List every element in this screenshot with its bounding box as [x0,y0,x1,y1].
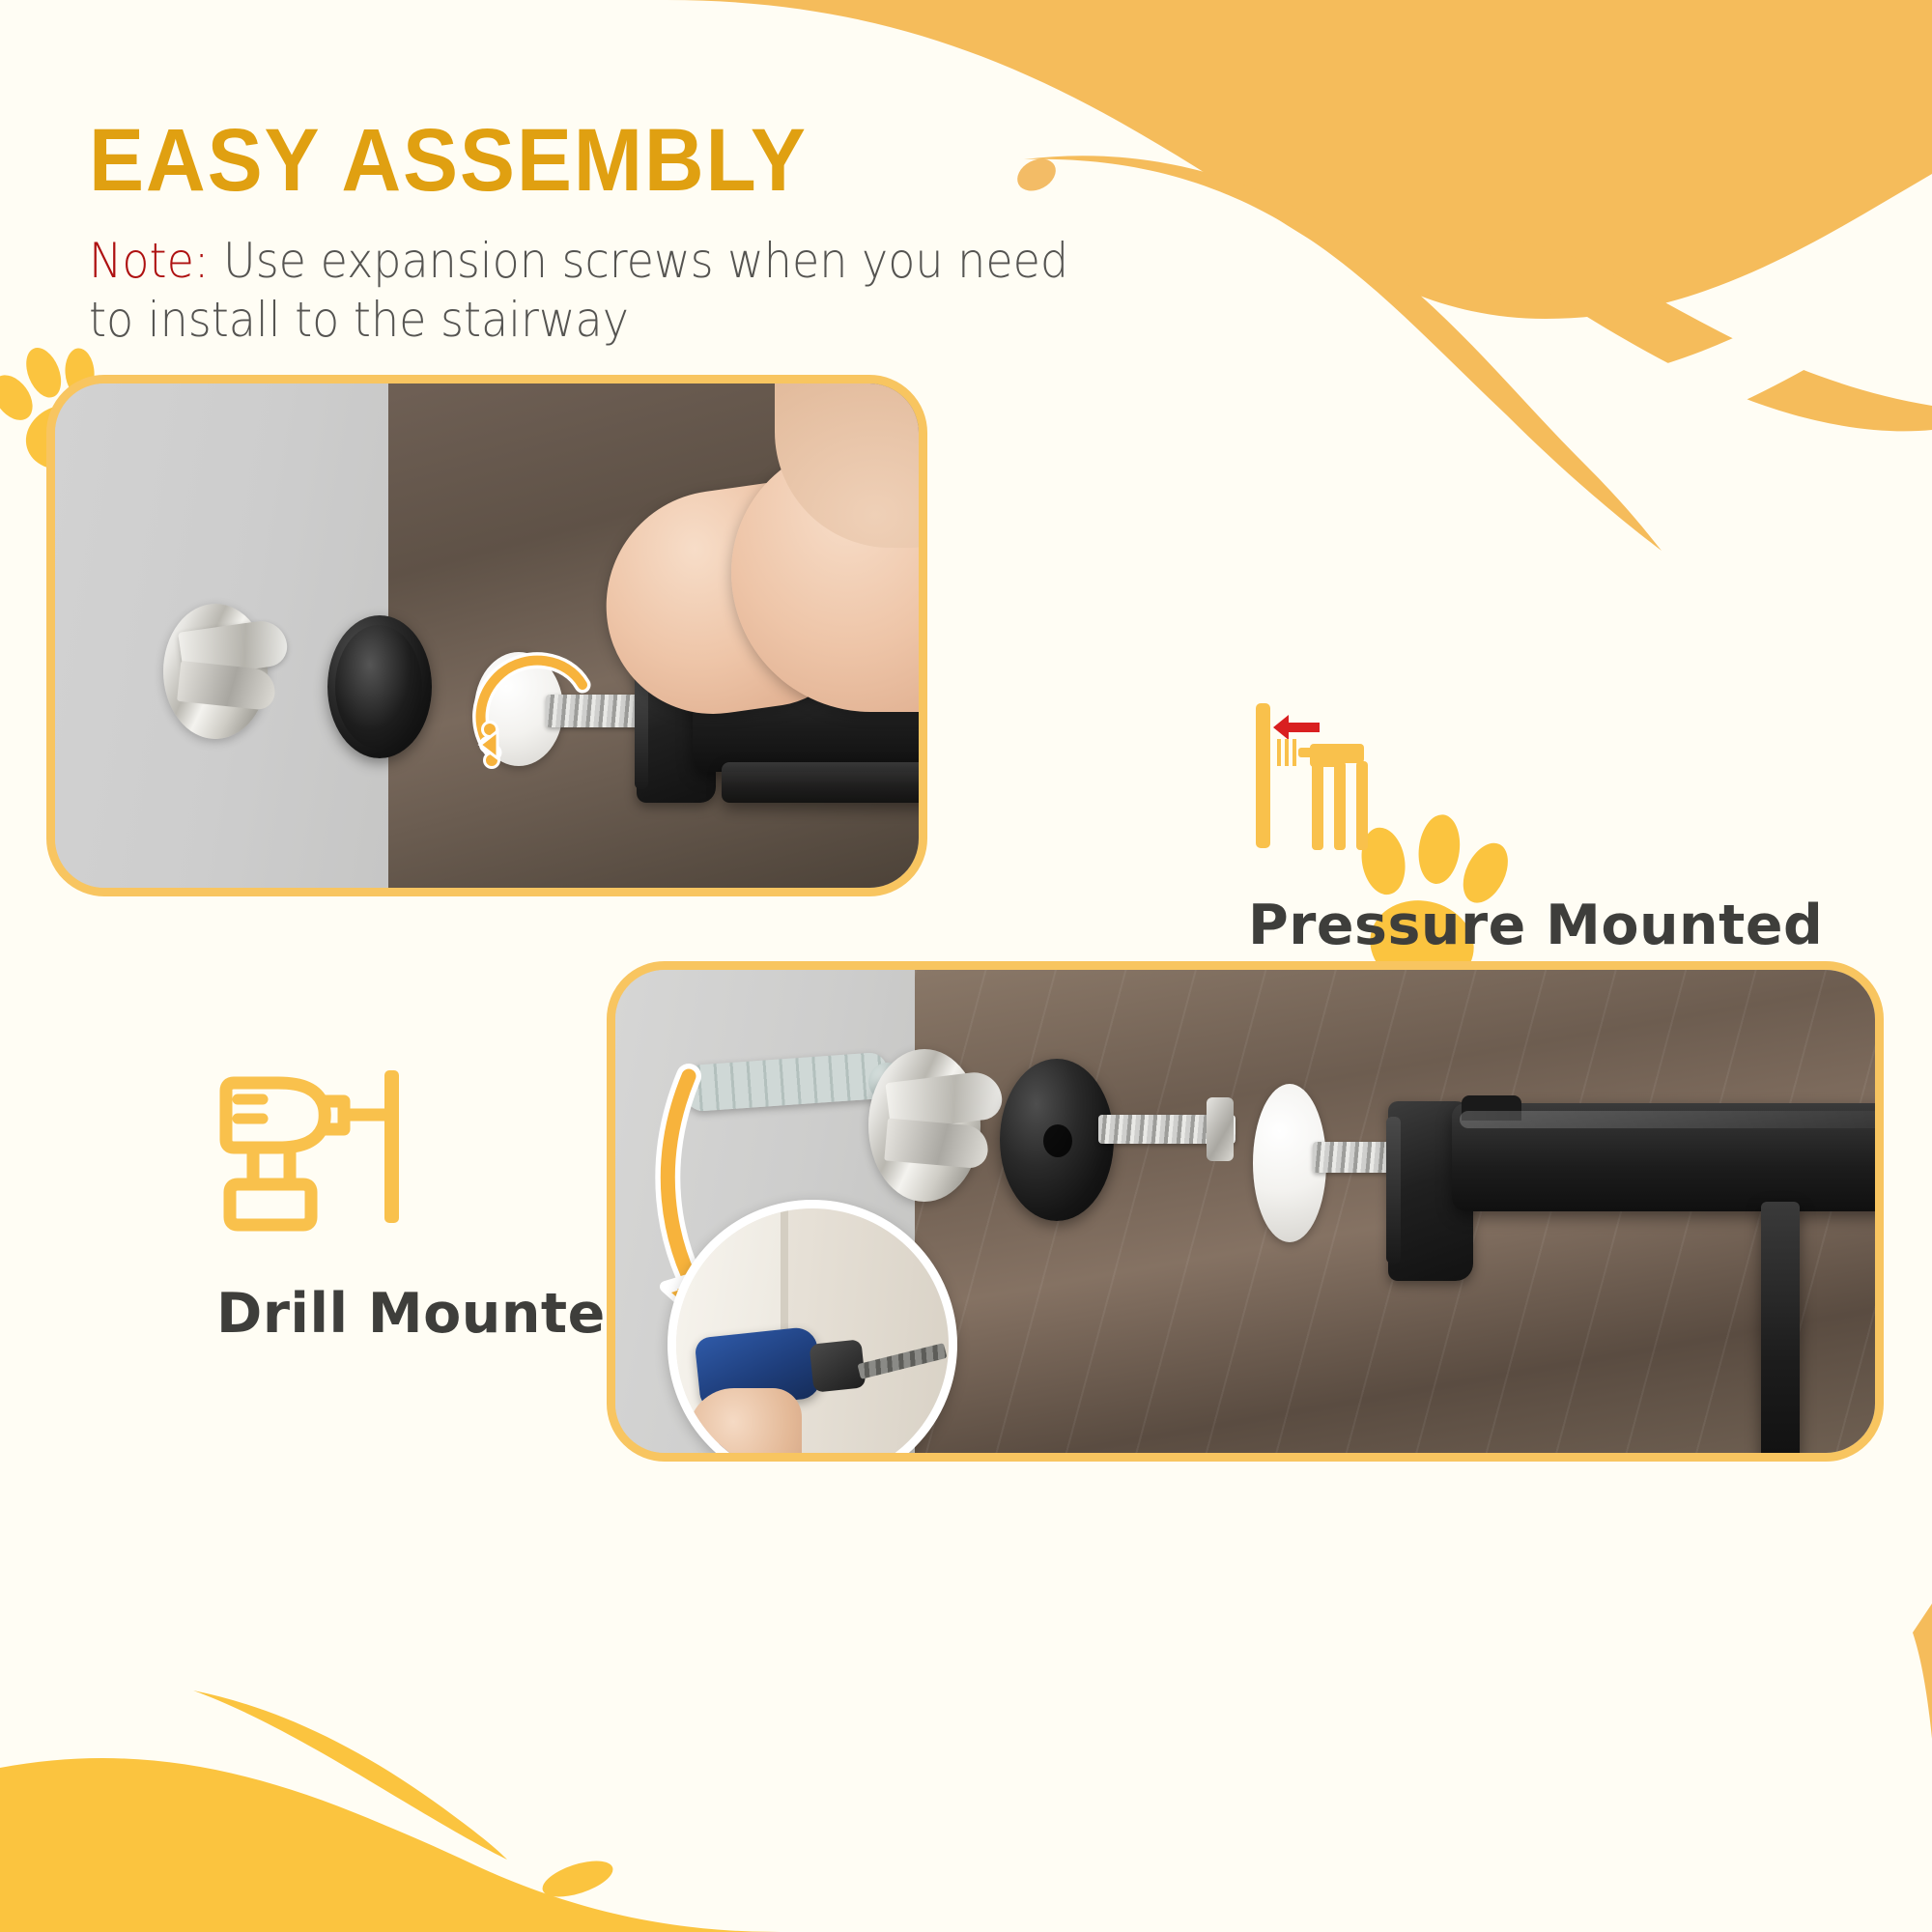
phillips-screw-head [1207,1097,1234,1161]
top-right-orange-blob-lower [1468,145,1932,431]
page-title: EASY ASSEMBLY [89,116,1392,205]
red-left-arrow-icon [1273,715,1320,740]
black-cup-hole [1043,1124,1072,1157]
note-line-1: Use expansion screws when you need [209,233,1068,289]
right-edge-accent [1913,1604,1932,1739]
black-gate-post-2 [1761,1202,1800,1462]
note-label: Note: [89,233,209,289]
black-cup-rim [335,625,422,749]
feature-drill-mounted: Drill Mounted [203,1051,645,1346]
pressure-mount-photo [46,375,927,896]
feature-pressure-label: Pressure Mounted [1248,894,1823,957]
black-knob-ridge-2 [1386,1117,1401,1264]
wall-pressure-gate-icon [1248,688,1480,862]
inset-hand [688,1388,802,1462]
top-left-corner-wave [0,0,116,70]
feature-pressure-mounted: Pressure Mounted [1248,688,1823,957]
infographic-canvas: EASY ASSEMBLY Note: Use expansion screws… [0,0,1932,1932]
black-gate-bar-lower [722,762,927,803]
inset-drill-bit [857,1343,947,1379]
feature-drill-label: Drill Mounted [216,1282,645,1346]
bottom-left-yellow-wave [0,1758,734,1932]
gate-bar-2-highlight [1460,1111,1884,1128]
bottom-left-yellow-wave-2 [0,1762,792,1932]
note-line-2: to install to the stairway [89,292,629,348]
power-drill-wall-icon [203,1051,483,1254]
note-text: Note: Use expansion screws when you need… [89,232,1084,350]
header-block: EASY ASSEMBLY Note: Use expansion screws… [89,116,1490,350]
drill-mount-photo [607,961,1884,1462]
small-gold-dot [538,1854,617,1904]
bottom-left-swoosh [193,1690,507,1860]
